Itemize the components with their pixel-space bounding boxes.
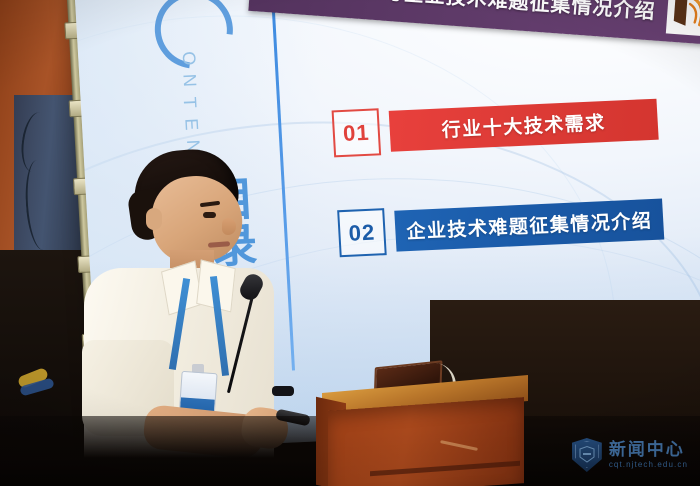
watermark-text: 新闻中心 cqt.njtech.edu.cn (609, 441, 688, 469)
contents-letter: E (180, 118, 202, 133)
watermark-title: 新闻中心 (609, 441, 688, 459)
eye (203, 212, 216, 218)
contents-letter: O (178, 51, 200, 68)
agenda-label-02: 企业技术难题征集情况介绍 (394, 199, 664, 252)
contents-letter: N (178, 73, 200, 89)
watermark-url: cqt.njtech.edu.cn (609, 461, 688, 469)
agenda-number-01: 01 (332, 108, 382, 157)
wooden-lectern (322, 384, 528, 486)
microphone-base (272, 386, 294, 396)
letter-c-glyph (139, 0, 249, 84)
conference-logo (666, 0, 700, 37)
watermark: 新闻中心 cqt.njtech.edu.cn (572, 438, 688, 472)
lectern-front-panel (328, 397, 524, 486)
presentation-photo: O N T E N T S 目录 01 行业十大技术需求 02 企业技术难题征集… (0, 0, 700, 486)
agenda-label-01: 行业十大技术需求 (389, 99, 659, 152)
ear (146, 208, 162, 230)
agenda-number-02: 02 (337, 208, 387, 257)
njtech-shield-emblem (572, 438, 602, 472)
banner-title-text: 与企业技术难题征集情况介绍 (382, 0, 656, 24)
contents-letter: T (179, 96, 201, 110)
